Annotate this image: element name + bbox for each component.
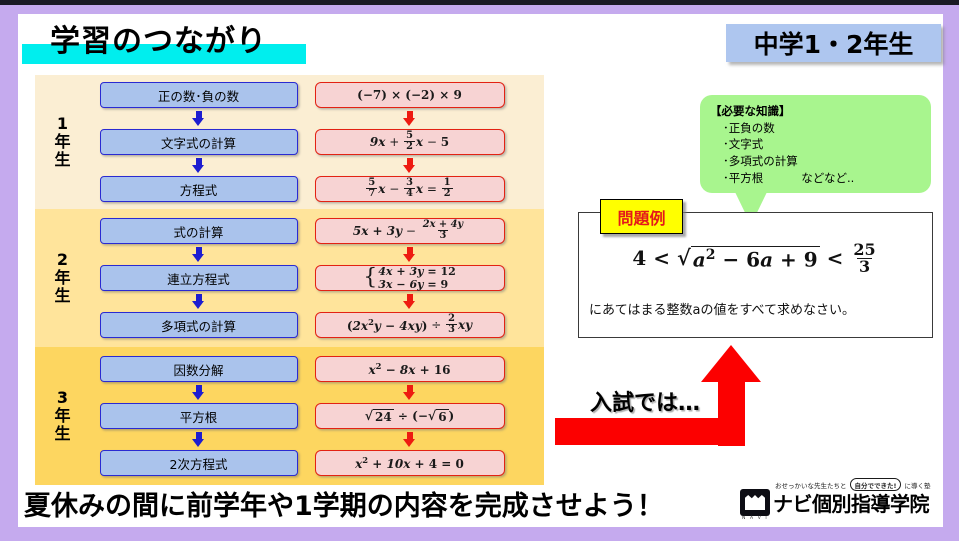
callout-item-with-etc: ･平方根などなど.. bbox=[710, 170, 931, 187]
grade-badge-label: 中学1・2年生 bbox=[754, 25, 914, 61]
logo-name: ナビ個別指導学院 bbox=[773, 488, 929, 517]
year-band-1: 1 年 生 正の数･負の数 文字式の計算 方程式 (−7) × (−2) × 9 bbox=[35, 75, 544, 209]
down-arrow-icon bbox=[403, 247, 416, 262]
year-band-3: 3 年 生 因数分解 平方根 2次方程式 x2 − 8x + 16 bbox=[35, 347, 544, 485]
formula-box[interactable]: (2x2y − 4xy) ÷ 23xy bbox=[315, 312, 505, 338]
topic-box[interactable]: 多項式の計算 bbox=[100, 312, 298, 338]
down-arrow-icon bbox=[403, 385, 416, 400]
topic-box[interactable]: 平方根 bbox=[100, 403, 298, 429]
topic-box[interactable]: 式の計算 bbox=[100, 218, 298, 244]
grade-badge: 中学1・2年生 bbox=[726, 24, 941, 62]
formula-box[interactable]: 57x − 34x = 12 bbox=[315, 176, 505, 202]
formula-box[interactable]: 5x + 3y − 2x + 4y3 bbox=[315, 218, 505, 244]
year-label-char: 生 bbox=[54, 151, 70, 169]
year-band-3-label: 3 年 生 bbox=[35, 347, 90, 485]
formula-box[interactable]: √24 ÷ (−√6) bbox=[315, 403, 505, 429]
topic-column-year1: 正の数･負の数 文字式の計算 方程式 bbox=[90, 75, 307, 209]
callout-heading: 【必要な知識】 bbox=[710, 103, 931, 120]
topic-box[interactable]: 連立方程式 bbox=[100, 265, 298, 291]
year-label-char: 生 bbox=[54, 287, 70, 305]
problem-example-label: 問題例 bbox=[600, 199, 683, 234]
year-label-char: 年 bbox=[54, 133, 70, 151]
formula-column-year3: x2 − 8x + 16 √24 ÷ (−√6) x2 + 10x + 4 = … bbox=[307, 347, 512, 485]
down-arrow-icon bbox=[403, 432, 416, 447]
topic-box[interactable]: 方程式 bbox=[100, 176, 298, 202]
down-arrow-icon bbox=[192, 111, 205, 126]
formula-box[interactable]: {4x + 3y = 123x − 6y = 9 bbox=[315, 265, 505, 291]
topic-box[interactable]: 因数分解 bbox=[100, 356, 298, 382]
brand-logo: おせっかいな先生たちと 自分でできた! に導く塾 N A V I ナビ個別指導学… bbox=[740, 478, 938, 523]
down-arrow-icon bbox=[403, 294, 416, 309]
formula-box[interactable]: (−7) × (−2) × 9 bbox=[315, 82, 505, 108]
topic-box[interactable]: 文字式の計算 bbox=[100, 129, 298, 155]
bottom-message: 夏休みの間に前学年や1学期の内容を完成させよう！ bbox=[24, 484, 664, 523]
year-label-char: 生 bbox=[54, 425, 70, 443]
down-arrow-icon bbox=[192, 385, 205, 400]
callout-item: ･文字式 bbox=[710, 136, 931, 153]
year-band-2-label: 2 年 生 bbox=[35, 209, 90, 347]
year-label-char: 年 bbox=[54, 269, 70, 287]
page-title-group: 学習のつながり bbox=[22, 12, 322, 64]
down-arrow-icon bbox=[192, 247, 205, 262]
year-band-2: 2 年 生 式の計算 連立方程式 多項式の計算 5x + 3y − 2x + 4… bbox=[35, 209, 544, 347]
problem-caption: にあてはまる整数aの値をすべて求めなさい。 bbox=[589, 299, 855, 318]
year-label-char: 年 bbox=[54, 407, 70, 425]
callout-item: ･平方根 bbox=[723, 171, 763, 185]
formula-column-year1: (−7) × (−2) × 9 9x + 52x − 5 57x − 34x =… bbox=[307, 75, 512, 209]
callout-item: ･正負の数 bbox=[710, 120, 931, 137]
formula-box[interactable]: 9x + 52x − 5 bbox=[315, 129, 505, 155]
topic-box[interactable]: 2次方程式 bbox=[100, 450, 298, 476]
down-arrow-icon bbox=[403, 111, 416, 126]
topic-column-year2: 式の計算 連立方程式 多項式の計算 bbox=[90, 209, 307, 347]
topic-box[interactable]: 正の数･負の数 bbox=[100, 82, 298, 108]
logo-mark-icon bbox=[740, 489, 770, 516]
topic-column-year3: 因数分解 平方根 2次方程式 bbox=[90, 347, 307, 485]
formula-box[interactable]: x2 − 8x + 16 bbox=[315, 356, 505, 382]
year-band-1-label: 1 年 生 bbox=[35, 75, 90, 209]
callout-etc: などなど.. bbox=[801, 171, 854, 185]
down-arrow-icon bbox=[192, 432, 205, 447]
formula-box[interactable]: x2 + 10x + 4 = 0 bbox=[315, 450, 505, 476]
slide-root: 学習のつながり 中学1・2年生 1 年 生 正の数･負の数 文字式の計算 方程式 bbox=[0, 0, 959, 541]
top-edge-strip bbox=[0, 0, 959, 5]
callout-item: ･多項式の計算 bbox=[710, 153, 931, 170]
required-knowledge-callout: 【必要な知識】 ･正負の数 ･文字式 ･多項式の計算 ･平方根などなど.. bbox=[700, 95, 931, 193]
year-label-char: 3 bbox=[57, 389, 68, 407]
problem-formula: 4 < √a2 − 6a + 9 < 253 bbox=[579, 243, 932, 276]
logo-face-shape bbox=[745, 495, 765, 510]
year-label-char: 2 bbox=[57, 251, 68, 269]
year-label-char: 1 bbox=[57, 115, 68, 133]
page-title: 学習のつながり bbox=[50, 16, 267, 60]
arrow-horizontal-shaft bbox=[555, 418, 745, 445]
logo-mark-caption: N A V I bbox=[742, 516, 768, 521]
arrow-head bbox=[701, 345, 761, 382]
exam-label: 入試では… bbox=[590, 385, 700, 417]
down-arrow-icon bbox=[192, 294, 205, 309]
down-arrow-icon bbox=[192, 158, 205, 173]
arrow-vertical-shaft bbox=[718, 379, 745, 446]
down-arrow-icon bbox=[403, 158, 416, 173]
formula-column-year2: 5x + 3y − 2x + 4y3 {4x + 3y = 123x − 6y … bbox=[307, 209, 512, 347]
curriculum-flow-table: 1 年 生 正の数･負の数 文字式の計算 方程式 (−7) × (−2) × 9 bbox=[35, 75, 544, 485]
